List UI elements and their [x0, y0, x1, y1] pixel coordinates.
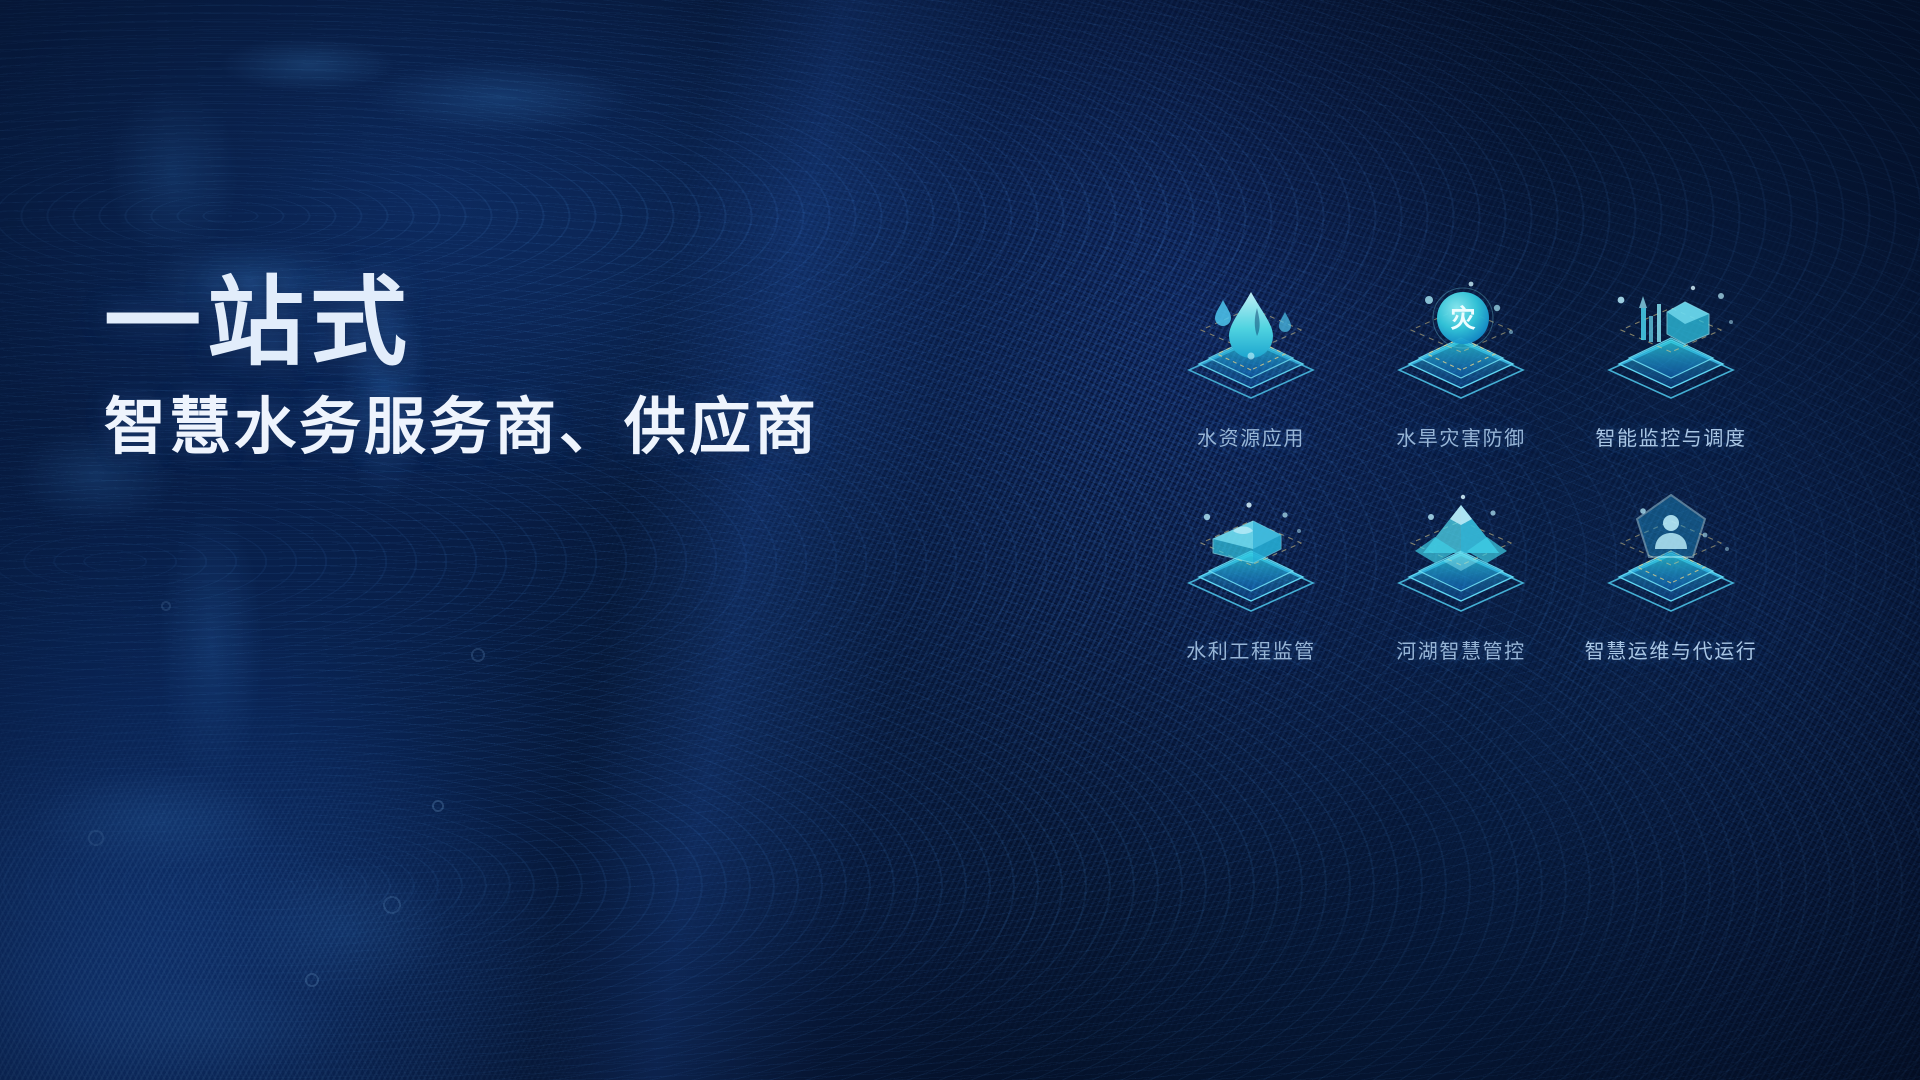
disaster-sphere-icon: 灾 — [1371, 278, 1551, 418]
module-label: 水利工程监管 — [1186, 635, 1316, 664]
module-card-river-lake[interactable]: 河湖智慧管控 — [1356, 491, 1566, 664]
module-label: 河湖智慧管控 — [1396, 635, 1526, 664]
water-drop-icon — [1161, 278, 1341, 418]
module-card-water-engineering[interactable]: 水利工程监管 — [1146, 491, 1356, 664]
module-label: 智能监控与调度 — [1595, 422, 1746, 451]
page-title: 一站式 — [104, 272, 819, 375]
module-card-water-resource[interactable]: 水资源应用 — [1146, 278, 1356, 451]
page-subtitle: 智慧水务服务商、供应商 — [104, 391, 819, 465]
dam-structure-icon — [1161, 491, 1341, 631]
module-label: 水资源应用 — [1197, 422, 1305, 451]
monitoring-tower-icon — [1581, 278, 1761, 418]
module-card-smart-monitoring[interactable]: 智能监控与调度 — [1566, 278, 1776, 451]
river-mountain-icon — [1371, 491, 1551, 631]
module-label: 水旱灾害防御 — [1396, 422, 1526, 451]
module-label: 智慧运维与代运行 — [1585, 635, 1758, 664]
module-card-smart-ops[interactable]: 智慧运维与代运行 — [1566, 491, 1776, 664]
disaster-glyph: 灾 — [1450, 304, 1475, 333]
shield-operations-icon — [1581, 491, 1761, 631]
module-card-flood-drought[interactable]: 灾 水旱灾害防御 — [1356, 278, 1566, 451]
slide-canvas: 一站式 智慧水务服务商、供应商 — [0, 0, 1920, 1080]
module-grid: 水资源应用 — [1146, 278, 1776, 664]
headline-block: 一站式 智慧水务服务商、供应商 — [104, 272, 819, 465]
